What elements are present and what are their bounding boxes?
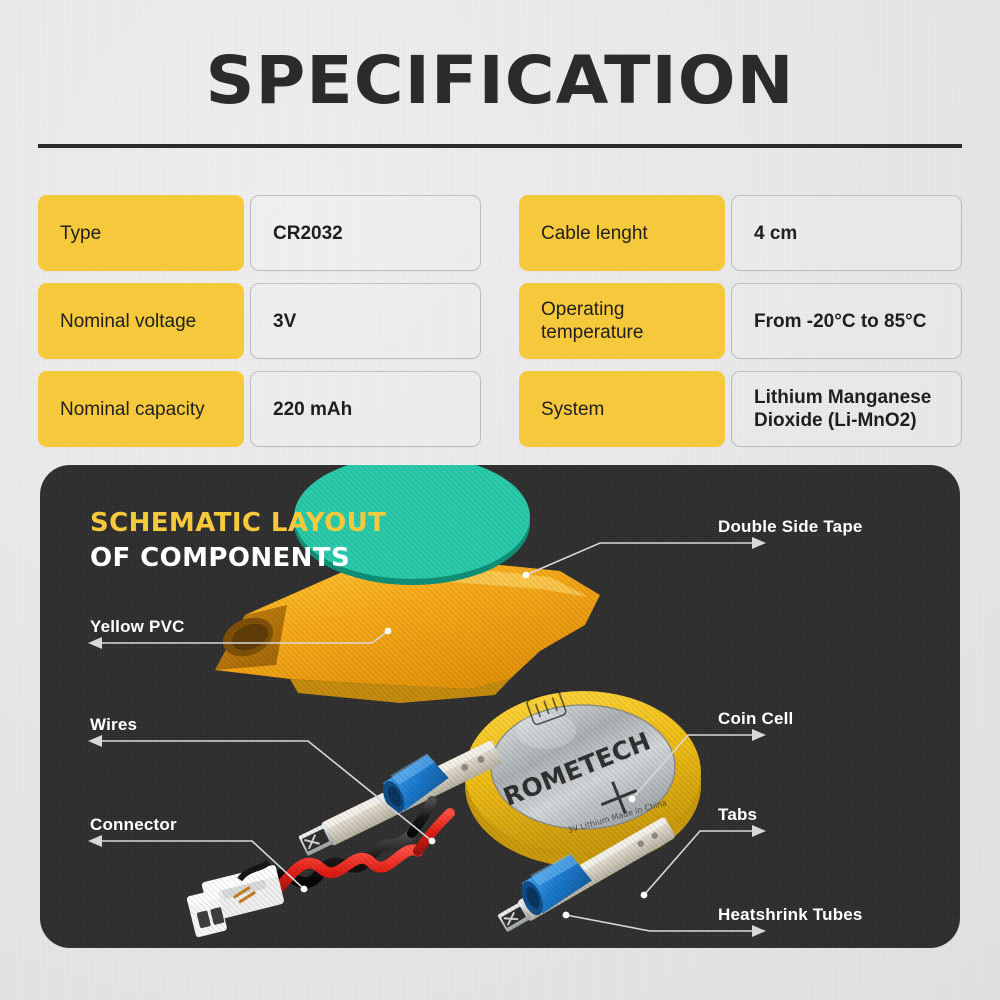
- callout-label-coin-cell: Coin Cell: [718, 709, 793, 729]
- spec-value: 4 cm: [731, 195, 962, 271]
- callout-label-heatshrink-tubes: Heatshrink Tubes: [718, 905, 863, 925]
- callout-label-yellow-pvc: Yellow PVC: [90, 617, 185, 637]
- spec-row: Cable lenght 4 cm: [519, 195, 962, 271]
- spec-key: Nominal voltage: [38, 283, 244, 359]
- title-divider: [38, 144, 962, 148]
- spec-key: System: [519, 371, 725, 447]
- callout-label-connector: Connector: [90, 815, 177, 835]
- spec-column-right: Cable lenght 4 cm Operating temperature …: [519, 195, 962, 447]
- callout-label-tabs: Tabs: [718, 805, 757, 825]
- spec-column-left: Type CR2032 Nominal voltage 3V Nominal c…: [38, 195, 481, 447]
- spec-row: Type CR2032: [38, 195, 481, 271]
- spec-key: Cable lenght: [519, 195, 725, 271]
- schematic-heading: SCHEMATIC LAYOUT OF COMPONENTS: [90, 507, 386, 574]
- page-title: SPECIFICATION: [0, 46, 1000, 116]
- callout-label-wires: Wires: [90, 715, 137, 735]
- spec-key: Nominal capacity: [38, 371, 244, 447]
- spec-key: Type: [38, 195, 244, 271]
- spec-row: Nominal voltage 3V: [38, 283, 481, 359]
- spec-value: 220 mAh: [250, 371, 481, 447]
- spec-value: From -20°C to 85°C: [731, 283, 962, 359]
- schematic-heading-line1: SCHEMATIC LAYOUT: [90, 507, 386, 539]
- callout-label-double-side-tape: Double Side Tape: [718, 517, 863, 537]
- schematic-panel: ROMETECH 3V Lithium Made in China: [40, 465, 960, 948]
- spec-value: 3V: [250, 283, 481, 359]
- spec-value: CR2032: [250, 195, 481, 271]
- spec-value: Lithium Manganese Dioxide (Li-MnO2): [731, 371, 962, 447]
- specification-table: Type CR2032 Nominal voltage 3V Nominal c…: [38, 195, 962, 447]
- spec-row: System Lithium Manganese Dioxide (Li-MnO…: [519, 371, 962, 447]
- schematic-heading-line2: OF COMPONENTS: [90, 542, 386, 574]
- spec-key: Operating temperature: [519, 283, 725, 359]
- spec-row: Operating temperature From -20°C to 85°C: [519, 283, 962, 359]
- spec-row: Nominal capacity 220 mAh: [38, 371, 481, 447]
